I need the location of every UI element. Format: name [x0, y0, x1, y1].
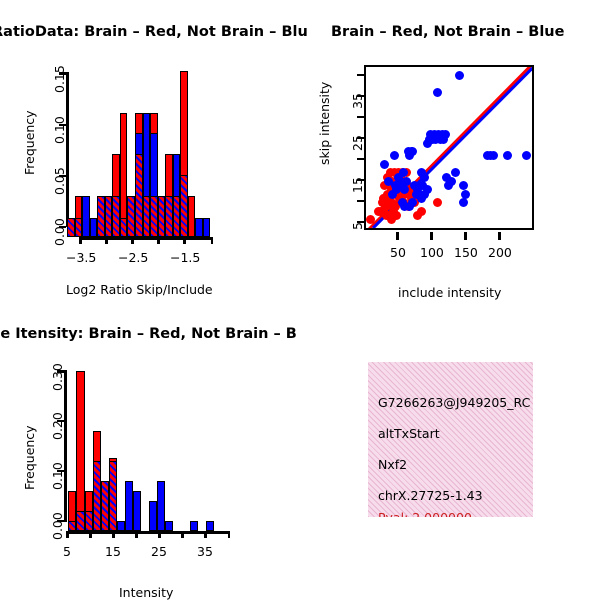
- histogram-bar: [173, 196, 181, 237]
- histogram-bar: [206, 521, 214, 531]
- scatter-x-ticklabel-100: 100: [420, 245, 444, 260]
- histogram-bar: [195, 218, 203, 237]
- scatter-y-tick-10: [357, 200, 365, 203]
- scatter-point: [382, 211, 391, 220]
- scatter-point: [455, 71, 464, 80]
- info-line-locus: chrX.27725-1.43: [378, 488, 483, 503]
- scatter-x-tick-150: [464, 232, 467, 240]
- scatter-x-ticklabel-50: 50: [390, 245, 406, 260]
- histogram-bar: [127, 196, 135, 237]
- histogram-bar: [82, 196, 90, 237]
- scatter-point: [423, 185, 432, 194]
- panel-scatter: Brain – Red, Not Brain – Blue skip inten…: [300, 0, 600, 300]
- histogram-bar: [165, 196, 173, 237]
- scatter-xlabel: include intensity: [398, 285, 501, 300]
- histogram-bar: [135, 154, 143, 237]
- histogram-bar: [133, 491, 141, 531]
- histogram-bar: [67, 218, 75, 237]
- histogram-bar: [105, 196, 113, 237]
- scatter-point: [417, 207, 426, 216]
- histogram-bar: [97, 196, 105, 237]
- scatter-data-area: [366, 67, 532, 228]
- histogram-bar: [76, 511, 84, 531]
- scatter-y-ticklabel-35: 35: [350, 93, 365, 109]
- scatter-point: [461, 190, 470, 199]
- histogram-bar: [101, 481, 109, 531]
- scatter-point: [503, 151, 512, 160]
- histogram-bar: [150, 196, 158, 237]
- scatter-point: [489, 151, 498, 160]
- scatter-point: [459, 198, 468, 207]
- scatter-y-tick-30: [357, 116, 365, 119]
- scatter-x-tick-100: [430, 232, 433, 240]
- scatter-point: [447, 177, 456, 186]
- scatter-ylabel: skip intensity: [317, 82, 332, 165]
- scatter-point: [433, 88, 442, 97]
- scatter-point: [522, 151, 531, 160]
- histogram-bar: [190, 521, 198, 531]
- histogram-bar: [158, 196, 166, 237]
- panel-info: G7266263@J949205_RC altTxStart Nxf2 chrX…: [300, 300, 600, 600]
- panel-intensity-histogram: ne Itensity: Brain – Red, Not Brain – B …: [0, 300, 300, 600]
- histogram-bar: [149, 501, 157, 531]
- panel-ratio-histogram: RatioData: Brain – Red, Not Brain – Blu …: [0, 0, 300, 300]
- histogram-bar: [76, 371, 84, 531]
- histogram-bar: [68, 521, 76, 531]
- scatter-y-tick-20: [357, 158, 365, 161]
- histogram-bar: [112, 196, 120, 237]
- scatter-x-ticklabel-200: 200: [488, 245, 512, 260]
- info-line-gene: Nxf2: [378, 457, 407, 472]
- histogram-bar: [75, 218, 83, 237]
- scatter-y-ticklabel-15: 15: [350, 177, 365, 193]
- histogram-bar: [203, 218, 211, 237]
- ratio-histogram-bars: [0, 0, 300, 300]
- scatter-point: [417, 168, 426, 177]
- intensity-histogram-bars: [0, 300, 300, 600]
- info-line-probe: G7266263@J949205_RC: [378, 395, 530, 410]
- histogram-bar: [90, 218, 98, 237]
- info-box[interactable]: G7266263@J949205_RC altTxStart Nxf2 chrX…: [368, 362, 533, 517]
- histogram-bar: [120, 218, 128, 237]
- scatter-point: [451, 168, 460, 177]
- info-line-event: altTxStart: [378, 426, 440, 441]
- histogram-bar: [157, 481, 165, 531]
- scatter-y-tick-40: [357, 74, 365, 77]
- histogram-bar: [125, 481, 133, 531]
- histogram-bar: [188, 196, 196, 237]
- histogram-bar: [93, 461, 101, 531]
- scatter-y-ticklabel-5: 5: [350, 222, 365, 230]
- scatter-x-tick-50: [396, 232, 399, 240]
- scatter-point: [408, 147, 417, 156]
- scatter-point: [380, 160, 389, 169]
- histogram-bar: [109, 461, 117, 531]
- scatter-point: [441, 130, 450, 139]
- scatter-x-ticklabel-150: 150: [454, 245, 478, 260]
- histogram-bar: [180, 175, 188, 237]
- scatter-point: [459, 181, 468, 190]
- histogram-bar: [85, 511, 93, 531]
- scatter-y-ticklabel-25: 25: [350, 135, 365, 151]
- scatter-point: [390, 151, 399, 160]
- histogram-bar: [165, 521, 173, 531]
- histogram-bar: [143, 196, 151, 237]
- scatter-title: Brain – Red, Not Brain – Blue: [331, 24, 564, 40]
- info-line-pvalue: Pval: 2.000000: [378, 510, 472, 517]
- histogram-bar: [117, 521, 125, 531]
- scatter-x-tick-200: [498, 232, 501, 240]
- scatter-point: [433, 198, 442, 207]
